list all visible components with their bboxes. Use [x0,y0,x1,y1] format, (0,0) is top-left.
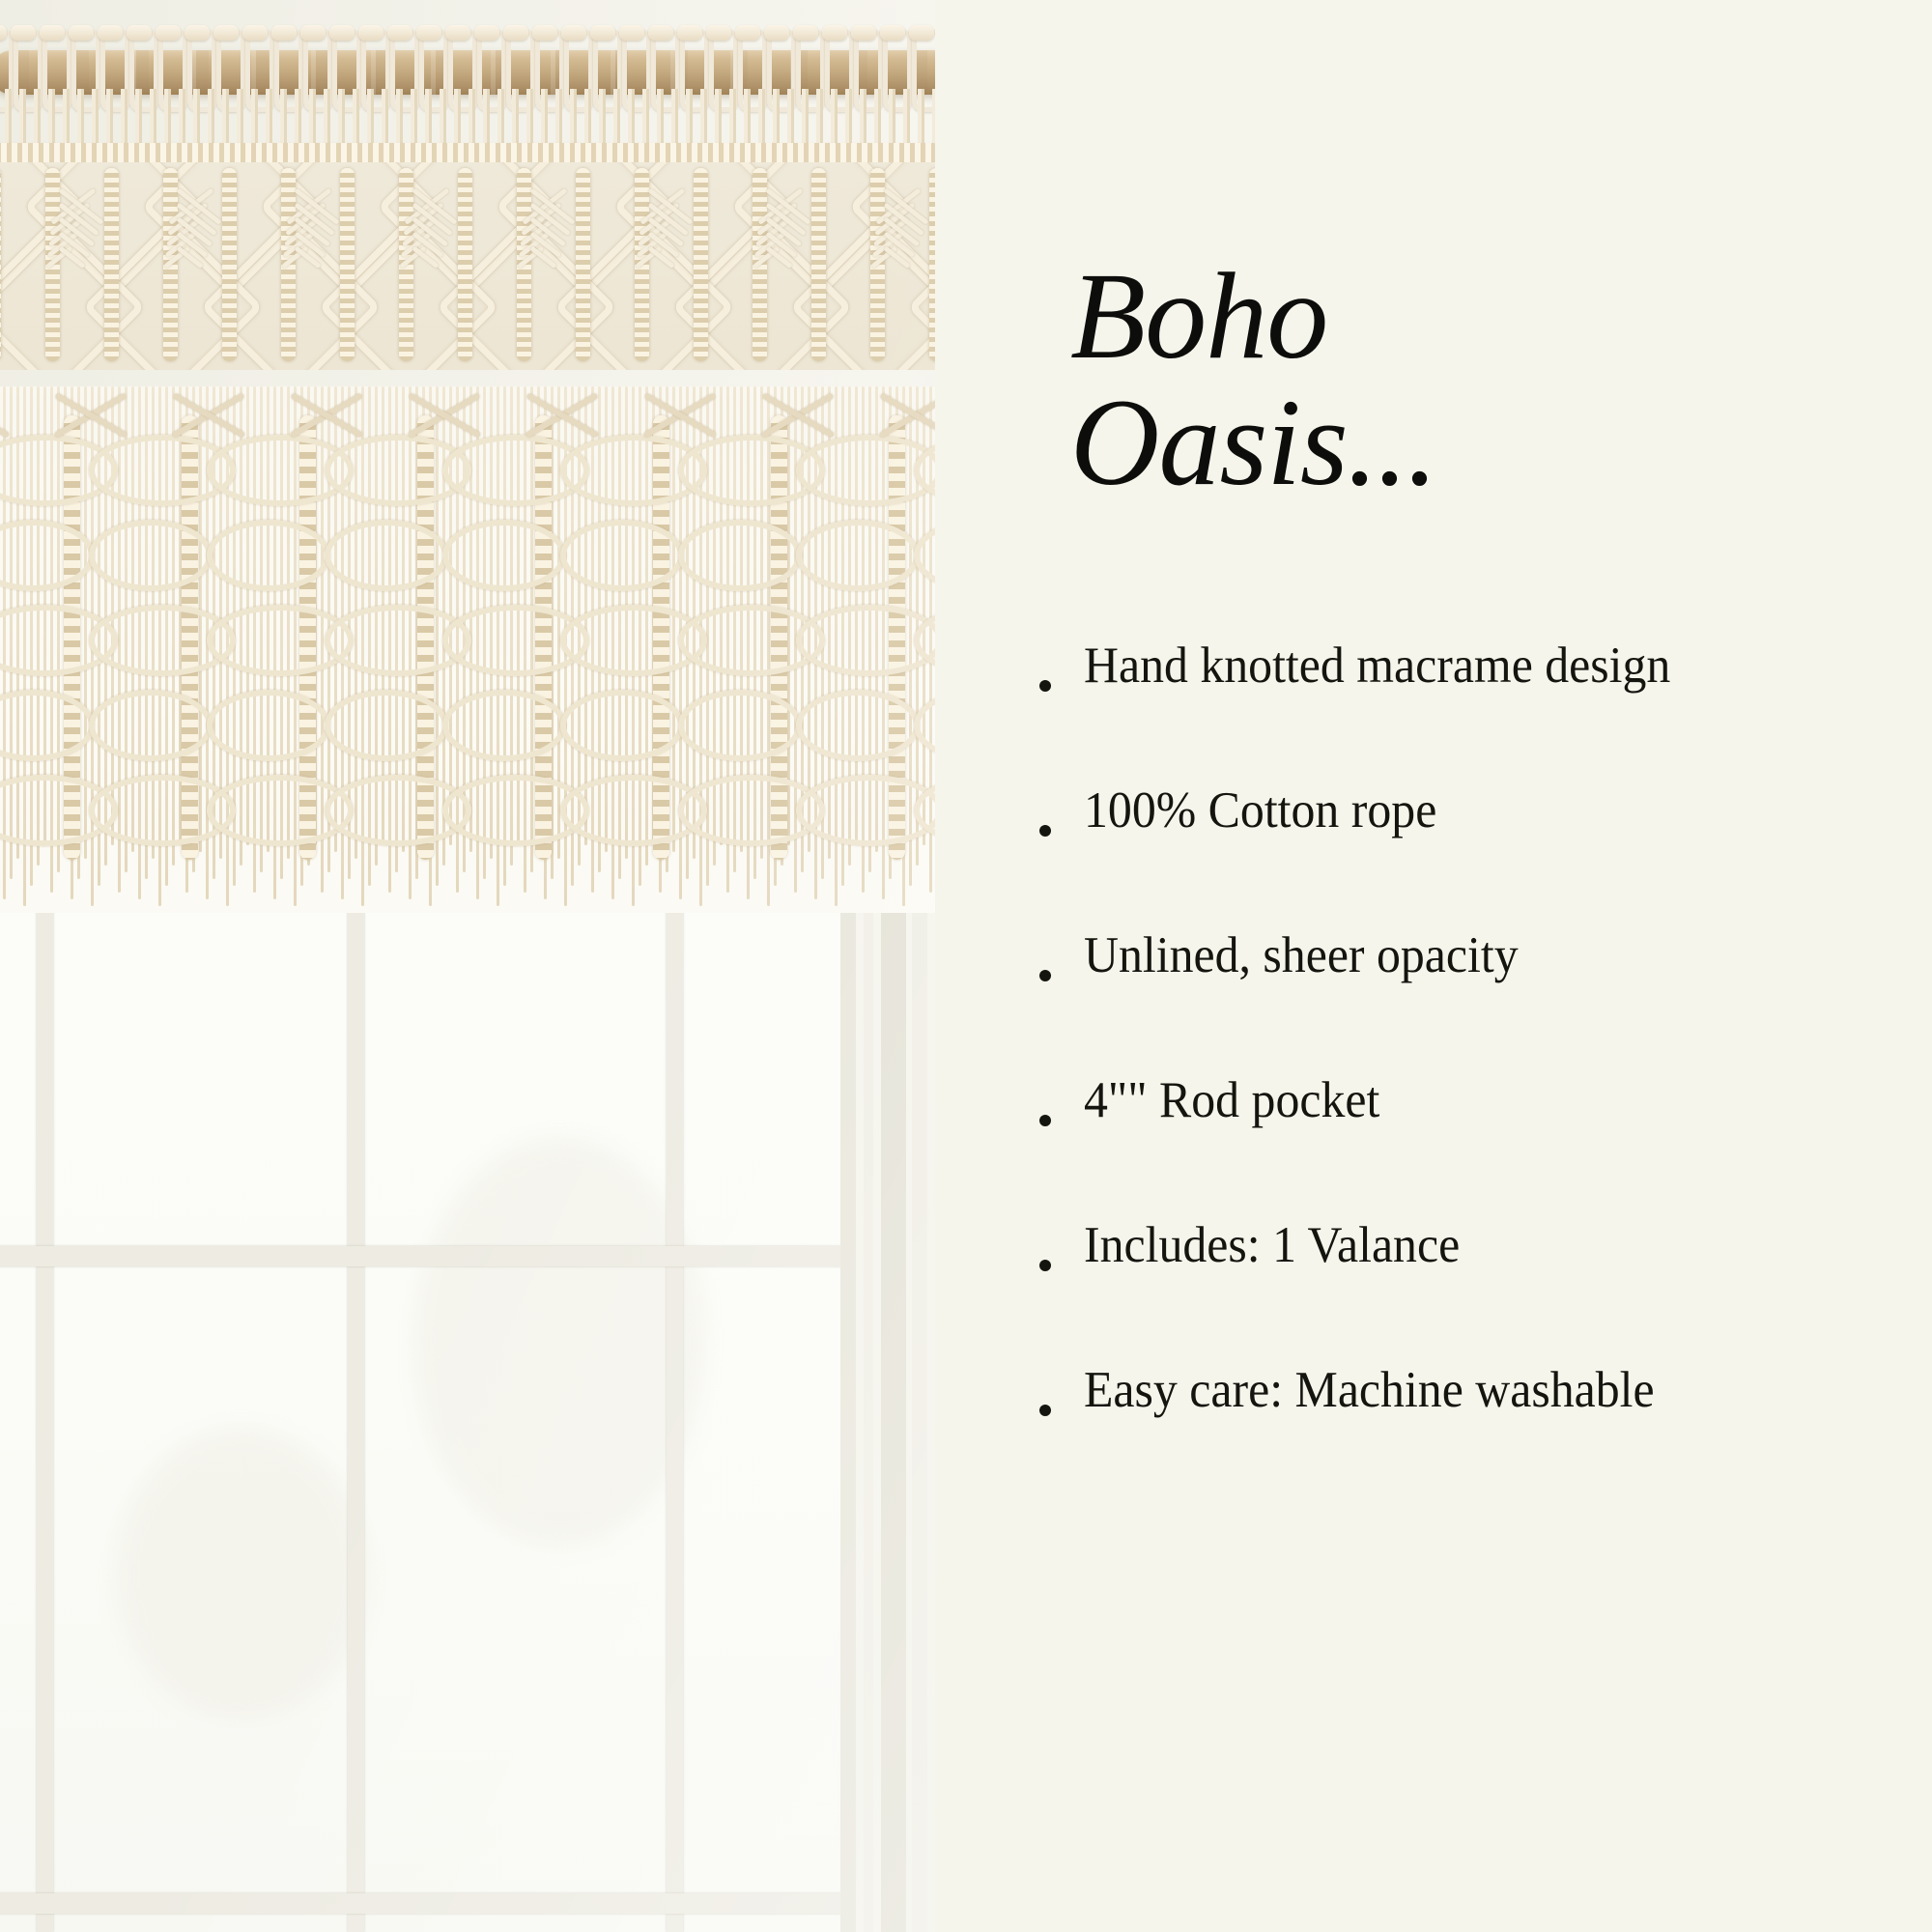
macrame-lace-loop [89,520,213,591]
title-line-2: Oasis... [1070,380,1882,506]
rod-loop-knot [213,25,239,41]
rod-loop-knot [185,25,210,41]
macrame-lace-loop [325,690,448,761]
bullet-dot-icon [1039,1405,1051,1416]
macrame-knot-column [222,168,237,361]
bullet-dot-icon [1039,970,1051,981]
macrame-lace-loop [678,690,802,761]
rod-loop-knot [735,25,760,41]
feature-label: 4"" Rod pocket [1084,1072,1379,1129]
page-title: Boho Oasis... [1070,253,1882,505]
macrame-lace-loop [207,690,330,761]
rod-loop-knot [880,25,905,41]
product-photo [0,0,935,1932]
rod-loop-knot [358,25,384,41]
feature-label: Hand knotted macrame design [1084,638,1670,695]
macrame-lace-loop [0,690,95,761]
rod-loop-knot [706,25,731,41]
glass-highlight [116,1430,367,1719]
rod-loop-knot [793,25,818,41]
glass-highlight [415,1140,705,1546]
bullet-dot-icon [1039,680,1051,692]
rod-loop-knot [11,25,36,41]
window-frame-edge [864,831,873,1932]
rod-loop-knot [271,25,297,41]
window-muntin-vertical [37,869,53,1932]
macrame-knot-column [340,168,355,361]
window-frame-edge [840,831,856,1932]
feature-label: 100% Cotton rope [1084,782,1436,839]
feature-list: Hand knotted macrame design 100% Cotton … [1039,638,1928,1507]
rod-loop-knot [532,25,557,41]
macrame-knot-column [811,168,826,361]
rod-loop-knot [416,25,441,41]
macrame-lace-loop [678,520,802,591]
rod-loop-knot [561,25,586,41]
macrame-lace-loop [560,520,684,591]
feature-label: Unlined, sheer opacity [1084,927,1519,984]
list-item: Easy care: Machine washable [1039,1362,1928,1507]
rod-loop-knot [503,25,528,41]
rod-loop-knot [329,25,355,41]
product-feature-image: Boho Oasis... Hand knotted macrame desig… [0,0,1932,1932]
rod-loop-knot [127,25,152,41]
title-line-1: Boho [1070,253,1882,380]
macrame-knot-column [694,168,708,361]
window-muntin-vertical [348,869,364,1932]
rod-loop-knot [648,25,673,41]
rod-loop-knot [387,25,412,41]
rod-loop-knot [851,25,876,41]
list-item: Unlined, sheer opacity [1039,927,1928,1072]
macrame-diamond-band [0,162,935,370]
bullet-dot-icon [1039,1115,1051,1126]
copy-panel: Boho Oasis... Hand knotted macrame desig… [935,0,1932,1932]
rod-loop-knot [156,25,181,41]
feature-label: Includes: 1 Valance [1084,1217,1460,1274]
macrame-knot-column [104,168,119,361]
macrame-lace-loop [325,520,448,591]
list-item: Includes: 1 Valance [1039,1217,1928,1362]
window-muntin-horizontal [0,1893,850,1914]
list-item: Hand knotted macrame design [1039,638,1928,782]
list-item: 100% Cotton rope [1039,782,1928,927]
rod-loop-knot [40,25,65,41]
rod-loop-knot [677,25,702,41]
rod-loop-knot [764,25,789,41]
macrame-lace-loop [796,520,920,591]
macrame-lace-loop [442,690,566,761]
rod-loop-knot [474,25,499,41]
macrame-knot-column [576,168,590,361]
rod-loop-knot [69,25,94,41]
window-frame-edge [912,831,927,1932]
rod-loop-knot [445,25,470,41]
rod-loop-knot [619,25,644,41]
rod-loop-knot [242,25,268,41]
macrame-lace-loop [560,690,684,761]
macrame-lace-loop [0,520,95,591]
macrame-lace-loop [207,520,330,591]
bullet-dot-icon [1039,1260,1051,1271]
rod-loop-knot [300,25,326,41]
bullet-dot-icon [1039,825,1051,837]
macrame-lace-loop [89,690,213,761]
macrame-knotted-fringe [0,386,935,913]
window-frame-edge [881,831,906,1932]
window-muntin-vertical [667,869,683,1932]
curtain-header-knot-bar [0,143,935,164]
macrame-lace-loop [796,690,920,761]
list-item: 4"" Rod pocket [1039,1072,1928,1217]
macrame-knot-column [0,168,1,361]
rod-loop-knot [822,25,847,41]
rod-loop-knot [909,25,934,41]
macrame-lace-loop [442,520,566,591]
macrame-knot-column [458,168,472,361]
rod-loop-knot [98,25,123,41]
window-muntin-horizontal [0,1246,850,1266]
feature-label: Easy care: Machine washable [1084,1362,1655,1419]
rod-loop-knot [590,25,615,41]
